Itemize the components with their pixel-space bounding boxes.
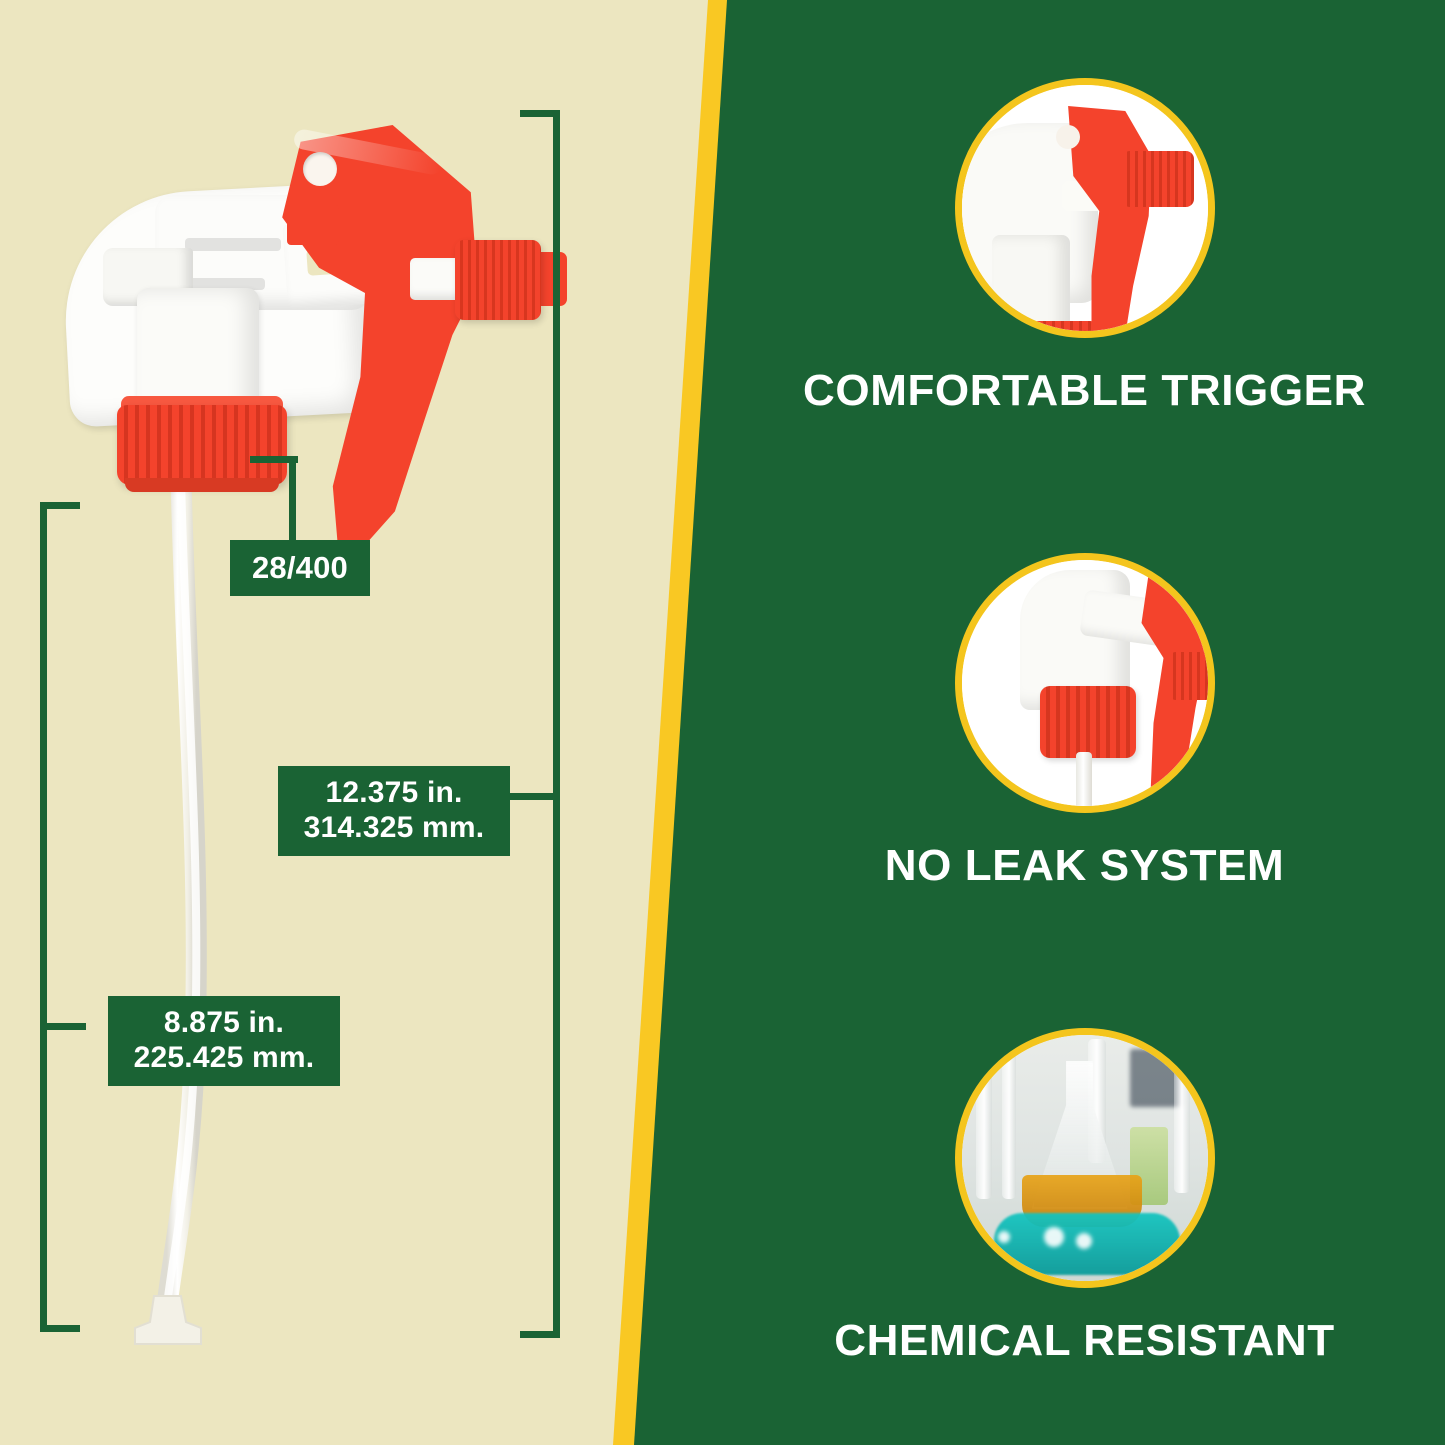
lab-test-tube-1 (976, 1069, 992, 1199)
feature-image-no-leak-system (955, 553, 1215, 813)
closeup-red-collar (1010, 321, 1096, 338)
product-dimensions-panel: 28/400 12.375 in. 314.325 mm. 8.875 in. … (0, 0, 724, 1445)
feature-title-comfortable-trigger: COMFORTABLE TRIGGER (724, 366, 1445, 416)
closeup2-dip-tube (1076, 752, 1092, 813)
infographic-canvas: 28/400 12.375 in. 314.325 mm. 8.875 in. … (0, 0, 1445, 1445)
closure-collar-bottom (125, 478, 279, 492)
red-closure-collar (117, 405, 287, 485)
feature-item-comfortable-trigger: COMFORTABLE TRIGGER (724, 78, 1445, 416)
feature-image-comfortable-trigger (955, 78, 1215, 338)
lab-test-tube-2 (1002, 1049, 1016, 1199)
lab-highlight-1 (1044, 1227, 1064, 1247)
closeup-trigger-pivot-hole (1056, 125, 1080, 149)
lab-highlight-3 (998, 1231, 1010, 1243)
red-nozzle-cap (455, 240, 541, 320)
total-height-label: 12.375 in. 314.325 mm. (278, 766, 510, 856)
feature-image-chemical-resistant (955, 1028, 1215, 1288)
dip-tube-length-label: 8.875 in. 225.425 mm. (108, 996, 340, 1086)
feature-title-no-leak-system: NO LEAK SYSTEM (724, 841, 1445, 891)
closeup2-red-cap (1040, 686, 1136, 758)
closeup2-nozzle-knob (1168, 652, 1215, 700)
feature-title-chemical-resistant: CHEMICAL RESISTANT (724, 1316, 1445, 1366)
thread-size-label: 28/400 (230, 540, 370, 596)
lab-test-tube-4 (1174, 1053, 1190, 1193)
feature-item-no-leak-system: NO LEAK SYSTEM (724, 553, 1445, 891)
features-panel: COMFORTABLE TRIGGER NO LEAK SYSTEM (724, 0, 1445, 1445)
trigger-pivot-hole (303, 152, 337, 186)
barrel-slot-upper (185, 238, 281, 251)
lab-highlight-2 (1076, 1233, 1092, 1249)
trigger-catch (287, 205, 339, 245)
closeup-nozzle-knob (1122, 151, 1194, 207)
trigger-sprayer-product-image (55, 100, 555, 1350)
feature-item-chemical-resistant: CHEMICAL RESISTANT (724, 1028, 1445, 1366)
